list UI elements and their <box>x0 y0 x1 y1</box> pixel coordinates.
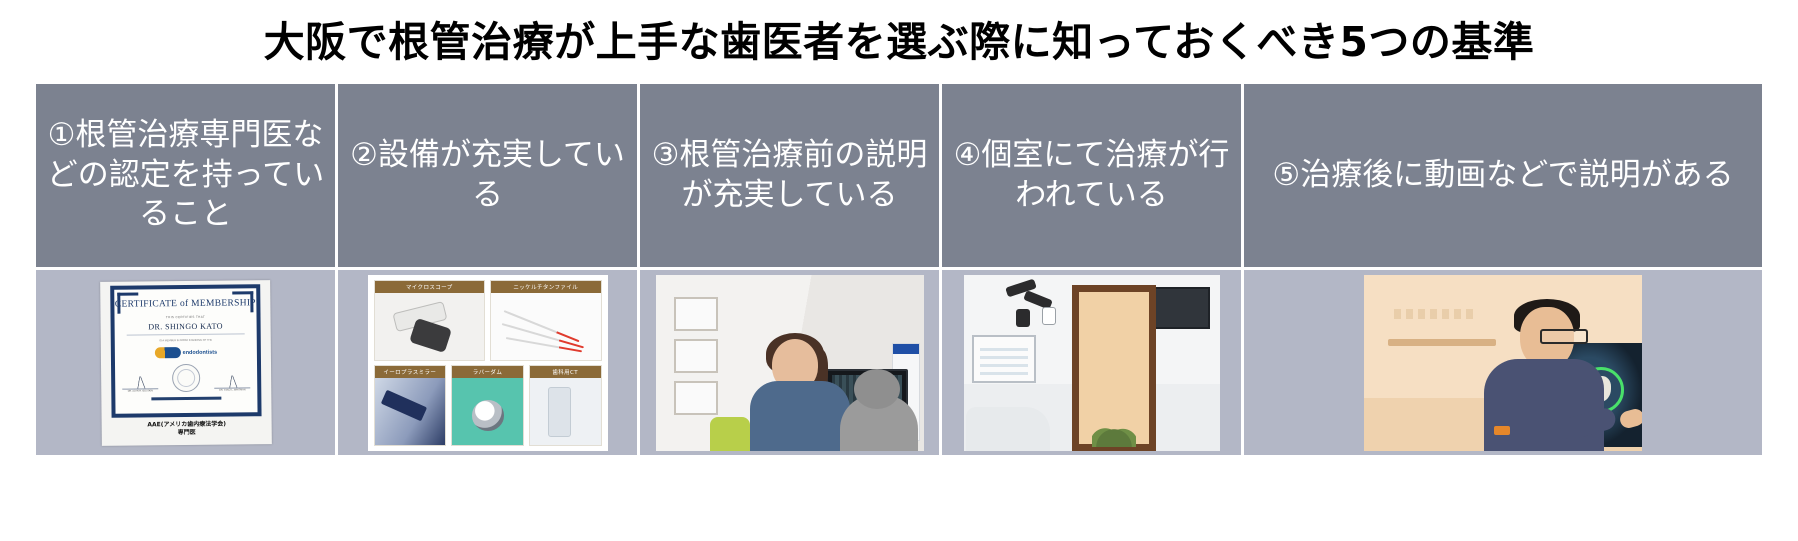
certificate-signature-row: DR. ALAN H. GLUSKIN DR. STACI L. WHITMAN <box>122 363 250 392</box>
plant-icon <box>1092 409 1136 447</box>
certificate-signature-left-name: DR. ALAN H. GLUSKIN <box>122 389 158 392</box>
equipment-card-dental-ct: 歯科用CT <box>529 365 602 446</box>
criteria-image-cell-1[interactable]: CERTIFICATE of MEMBERSHIP THIS CERTIFIES… <box>36 267 338 455</box>
certificate-seal-icon <box>172 363 200 391</box>
criteria-image-row: CERTIFICATE of MEMBERSHIP THIS CERTIFIES… <box>36 267 1762 455</box>
dentist-body <box>750 381 850 451</box>
dental-chair-icon <box>966 407 1050 451</box>
certificate-recipient: DR. SHINGO KATO <box>148 321 223 331</box>
doctor-body <box>1484 359 1604 451</box>
dentist-explaining-to-patient-photo <box>656 275 924 451</box>
wall-frame-icon <box>674 297 718 331</box>
criteria-header-cell-5[interactable]: ⑤治療後に動画などで説明がある <box>1244 84 1762 267</box>
certificate-signature-right: DR. STACI L. WHITMAN <box>214 375 250 391</box>
signature-icon <box>122 376 158 389</box>
criteria-image-cell-2[interactable]: マイクロスコープ ニッケルチタンファイル <box>338 267 640 455</box>
certificate-caption: AAE(アメリカ歯内療法学会) 専門医 <box>147 420 226 436</box>
dental-ct-icon <box>530 378 601 445</box>
post-treatment-video-explanation-photo <box>1364 275 1642 451</box>
page-title: 大阪で根管治療が上手な歯医者を選ぶ際に知っておくべき5つの基準 <box>264 22 1535 63</box>
certificate-title: CERTIFICATE of MEMBERSHIP <box>114 298 255 309</box>
treatment-chair-icon <box>710 417 750 451</box>
aae-logo-swoosh-icon <box>154 347 180 358</box>
microscope-icon <box>998 277 1062 331</box>
criteria-image-cell-5[interactable] <box>1244 267 1762 455</box>
mirror-icon <box>375 378 446 445</box>
criteria-heading-2: ②設備が充実している <box>346 136 629 215</box>
infographic-root: 大阪で根管治療が上手な歯医者を選ぶ際に知っておくべき5つの基準 ①根管治療専門医… <box>0 0 1798 541</box>
equipment-label-rubber-dam: ラバーダム <box>452 366 523 378</box>
certificate-footer-bar <box>151 396 221 399</box>
criteria-header-row: ①根管治療専門医などの認定を持っていること ②設備が充実している ③根管治療前の… <box>36 84 1762 267</box>
equipment-card-microscope: マイクロスコープ <box>374 280 486 361</box>
criteria-header-cell-1[interactable]: ①根管治療専門医などの認定を持っていること <box>36 84 338 267</box>
doctor-figure-icon <box>1484 299 1610 451</box>
criteria-heading-1: ①根管治療専門医などの認定を持っていること <box>44 116 327 235</box>
aae-logo-text: endodontists <box>182 349 217 355</box>
microscope-icon <box>375 293 485 360</box>
criteria-header-cell-4[interactable]: ④個室にて治療が行われている <box>942 84 1244 267</box>
name-badge-icon <box>1494 426 1510 435</box>
certificate-seal-inner <box>177 368 195 386</box>
criteria-heading-4: ④個室にて治療が行われている <box>950 136 1233 215</box>
equipment-label-niti-file: ニッケルチタンファイル <box>491 281 601 293</box>
criteria-header-cell-3[interactable]: ③根管治療前の説明が充実している <box>640 84 942 267</box>
certificate-certifies-line: THIS CERTIFIES THAT <box>165 314 204 318</box>
niti-file-icon <box>491 293 601 360</box>
criteria-image-cell-4[interactable] <box>942 267 1244 455</box>
equipment-card-mirror: イーロプラスミラー <box>374 365 447 446</box>
rubber-dam-icon <box>452 378 523 445</box>
criteria-header-cell-2[interactable]: ②設備が充実している <box>338 84 640 267</box>
glasses-icon <box>1540 329 1588 344</box>
equipment-label-dental-ct: 歯科用CT <box>530 366 601 378</box>
equipment-row-bottom: イーロプラスミラー ラバーダム 歯科用CT <box>374 365 602 446</box>
xray-display-icon <box>972 335 1036 383</box>
wall-monitor-icon <box>1150 287 1210 329</box>
private-treatment-room-photo <box>964 275 1220 451</box>
criteria-heading-3: ③根管治療前の説明が充実している <box>648 136 931 215</box>
certificate-signature-left: DR. ALAN H. GLUSKIN <box>122 376 158 392</box>
aae-logo: endodontists <box>154 346 217 358</box>
criteria-table: ①根管治療専門医などの認定を持っていること ②設備が充実している ③根管治療前の… <box>36 84 1762 455</box>
equipment-card-rubber-dam: ラバーダム <box>451 365 524 446</box>
certificate-rule <box>126 333 244 335</box>
equipment-card-niti-file: ニッケルチタンファイル <box>490 280 602 361</box>
certificate-caption-line1: AAE(アメリカ歯内療法学会) <box>147 420 226 428</box>
wall-frame-icon <box>674 339 718 373</box>
equipment-label-microscope: マイクロスコープ <box>375 281 485 293</box>
certificate-of-membership-photo: CERTIFICATE of MEMBERSHIP THIS CERTIFIES… <box>100 280 272 446</box>
title-bar: 大阪で根管治療が上手な歯医者を選ぶ際に知っておくべき5つの基準 <box>0 0 1798 84</box>
certificate-caption-line2: 専門医 <box>147 428 226 436</box>
wall-text-icon <box>1394 309 1474 319</box>
criteria-heading-5: ⑤治療後に動画などで説明がある <box>1272 156 1733 196</box>
criteria-image-cell-3[interactable] <box>640 267 942 455</box>
equipment-row-top: マイクロスコープ ニッケルチタンファイル <box>374 280 602 361</box>
equipment-label-mirror: イーロプラスミラー <box>375 366 446 378</box>
patient-figure-icon <box>840 395 918 451</box>
wall-frame-icon <box>674 381 718 415</box>
certificate-signature-right-name: DR. STACI L. WHITMAN <box>214 388 250 391</box>
dentist-figure-icon <box>748 339 852 451</box>
certificate-member-line: IS A MEMBER IN GOOD STANDING OF THE <box>159 338 212 342</box>
certificate-frame: CERTIFICATE of MEMBERSHIP THIS CERTIFIES… <box>110 284 261 418</box>
signature-icon <box>214 375 250 388</box>
wall-rail-icon <box>1388 339 1496 346</box>
equipment-collage-photo: マイクロスコープ ニッケルチタンファイル <box>368 275 608 451</box>
